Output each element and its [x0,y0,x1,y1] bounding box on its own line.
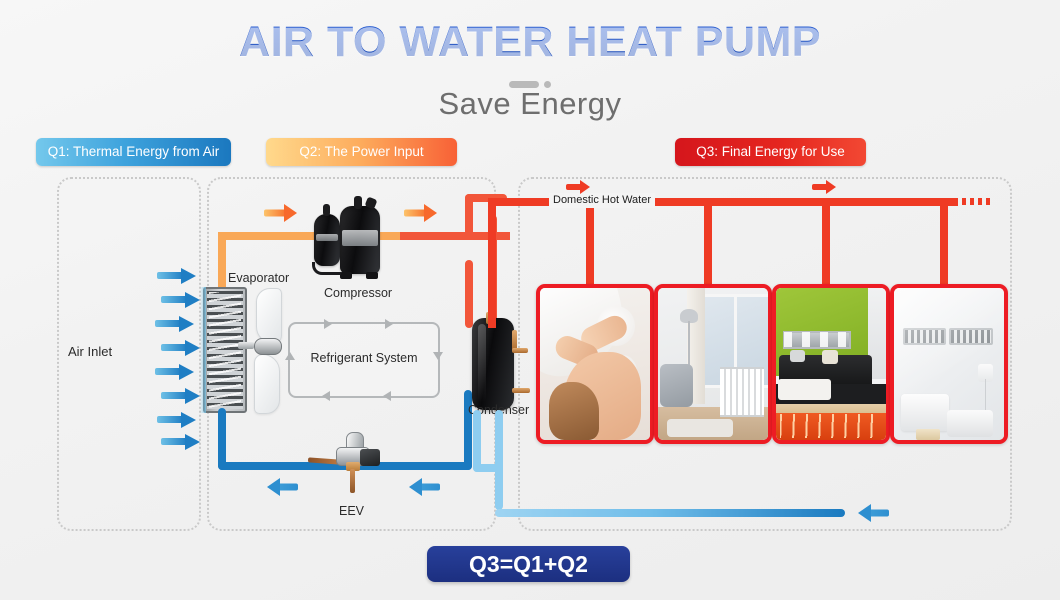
fan-blades [250,288,284,412]
photo-panel-underfloor-heating[interactable] [772,284,890,444]
photo-panel-fan-coil[interactable] [890,284,1008,444]
page-subtitle: Save Energy [0,86,1060,122]
pipe-water-supply-main [640,198,958,206]
evaporator-coil [203,287,247,413]
photo-panel-radiator[interactable] [654,284,772,444]
pipe-water-return-main [495,509,845,517]
airflow-arrow [118,412,196,428]
refrigerant-system-label: Refrigerant System [290,351,438,365]
zone-badge-q2[interactable]: Q2: The Power Input [266,138,457,166]
pipe-hot-gas-riser [218,232,226,290]
flow-arrow-red [566,180,594,194]
pipe-branch-4 [940,200,948,288]
pipe-branch-2 [704,200,712,288]
zone-badge-q3[interactable]: Q3: Final Energy for Use [675,138,866,166]
air-inlet-label: Air Inlet [68,344,112,359]
pipe-water-supply-dashed-end [962,198,991,205]
flow-arrow-blue [400,478,440,496]
flow-arrow-orange [264,204,300,222]
pipe-water-return-riser-b [495,410,503,510]
photo-panel-shower[interactable] [536,284,654,444]
eev-valve [330,432,382,490]
condenser-unit [468,318,524,410]
evaporator-label: Evaporator [228,271,289,285]
airflow-arrow [116,316,194,332]
flow-arrow-red [812,180,840,194]
page-title: AIR TO WATER HEAT PUMP [0,18,1060,67]
zone-badge-q1[interactable]: Q1: Thermal Energy from Air [36,138,231,166]
flow-arrow-blue [258,478,298,496]
pipe-branch-3 [822,200,830,288]
energy-formula-badge: Q3=Q1+Q2 [427,546,630,582]
pipe-branch-1 [586,200,594,288]
pipe-water-return-riser-a [473,410,481,472]
airflow-arrow [122,388,200,404]
airflow-arrow [118,268,196,284]
eev-label: EEV [339,504,364,518]
airflow-arrow [116,364,194,380]
pipe-water-supply-left [488,198,550,206]
flow-arrow-orange [404,204,440,222]
airflow-arrow [122,292,200,308]
compressor-label: Compressor [324,286,392,300]
airflow-arrow [122,340,200,356]
domestic-hot-water-label: Domestic Hot Water [549,193,655,208]
pipe-water-supply-riser [488,198,496,328]
compressor-unit [310,196,394,278]
pipe-suction-down [218,408,226,470]
diagram-canvas: AIR TO WATER HEAT PUMP Save Energy Q1: T… [0,0,1060,600]
refrigerant-system-box: Refrigerant System [288,322,440,398]
airflow-arrow [122,434,200,450]
flow-arrow-return [845,504,889,522]
